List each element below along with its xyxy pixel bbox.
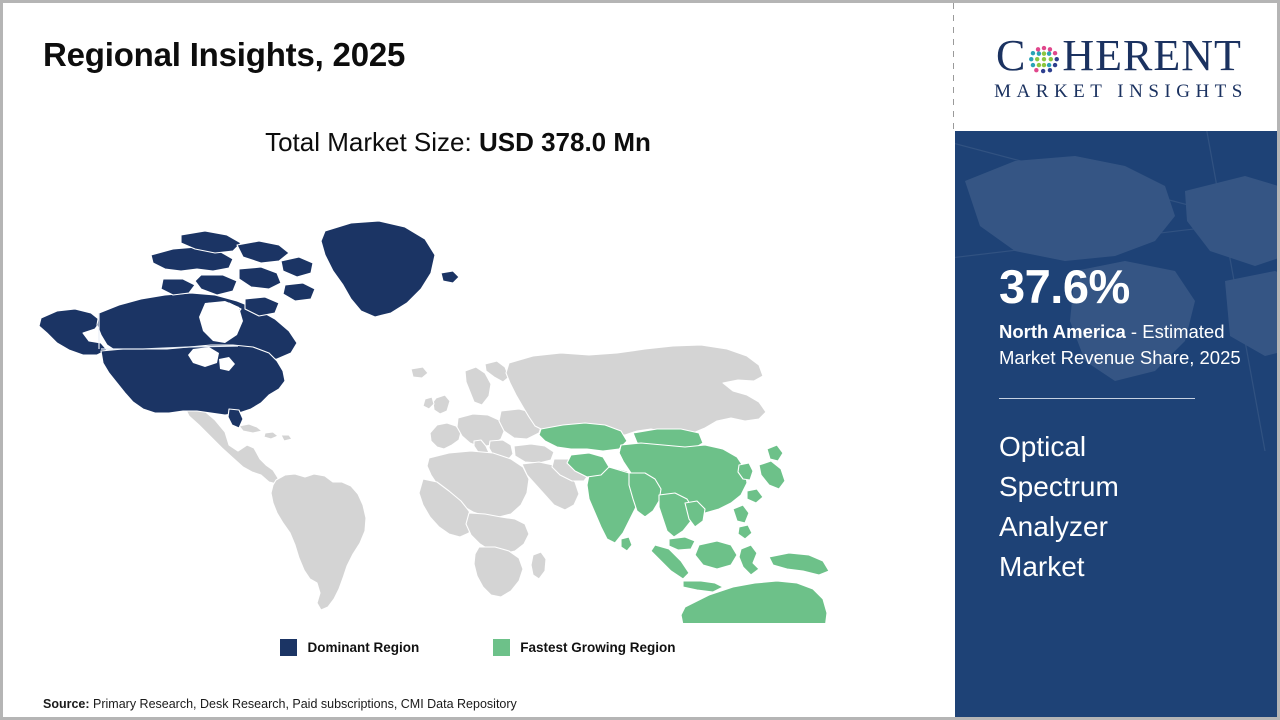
market-size-value: USD 378.0 Mn [479,127,651,157]
panel-content: 37.6% North America - Estimated Market R… [955,131,1239,588]
market-name: Optical Spectrum Analyzer Market [999,427,1199,588]
logo-letter-c: C [996,34,1026,78]
legend-swatch-fastest-growing [493,639,510,656]
total-market-size: Total Market Size: USD 378.0 Mn [3,127,913,158]
map-legend: Dominant Region Fastest Growing Region [3,639,953,656]
source-note: Source: Primary Research, Desk Research,… [43,697,517,711]
page-title: Regional Insights, 2025 [43,36,405,74]
legend-item-dominant: Dominant Region [280,639,419,656]
source-label: Source: [43,697,90,711]
panel-divider-rule [999,398,1195,399]
infographic-canvas: Regional Insights, 2025 Total Market Siz… [0,0,1280,720]
source-text: Primary Research, Desk Research, Paid su… [90,697,517,711]
logo-wordmark: C [996,34,1242,78]
logo-sphere-icon [1027,41,1061,75]
map-region-growth [539,423,878,623]
stats-panel: 37.6% North America - Estimated Market R… [955,131,1280,720]
share-caption: North America - Estimated Market Revenue… [999,319,1261,372]
world-map [33,183,913,623]
legend-item-fastest-growing: Fastest Growing Region [493,639,675,656]
company-logo: C [955,3,1280,131]
vertical-divider [953,3,954,131]
legend-label-fastest-growing: Fastest Growing Region [520,640,675,655]
logo-tagline: MARKET INSIGHTS [990,82,1248,101]
legend-swatch-dominant [280,639,297,656]
share-value: 37.6% [999,263,1239,310]
logo-letters-herent: HERENT [1062,34,1242,78]
left-content-pane: Regional Insights, 2025 Total Market Siz… [3,3,953,720]
market-size-label: Total Market Size: [265,127,479,157]
share-region-name: North America [999,321,1126,342]
map-region-dominant [39,221,459,428]
legend-label-dominant: Dominant Region [307,640,419,655]
